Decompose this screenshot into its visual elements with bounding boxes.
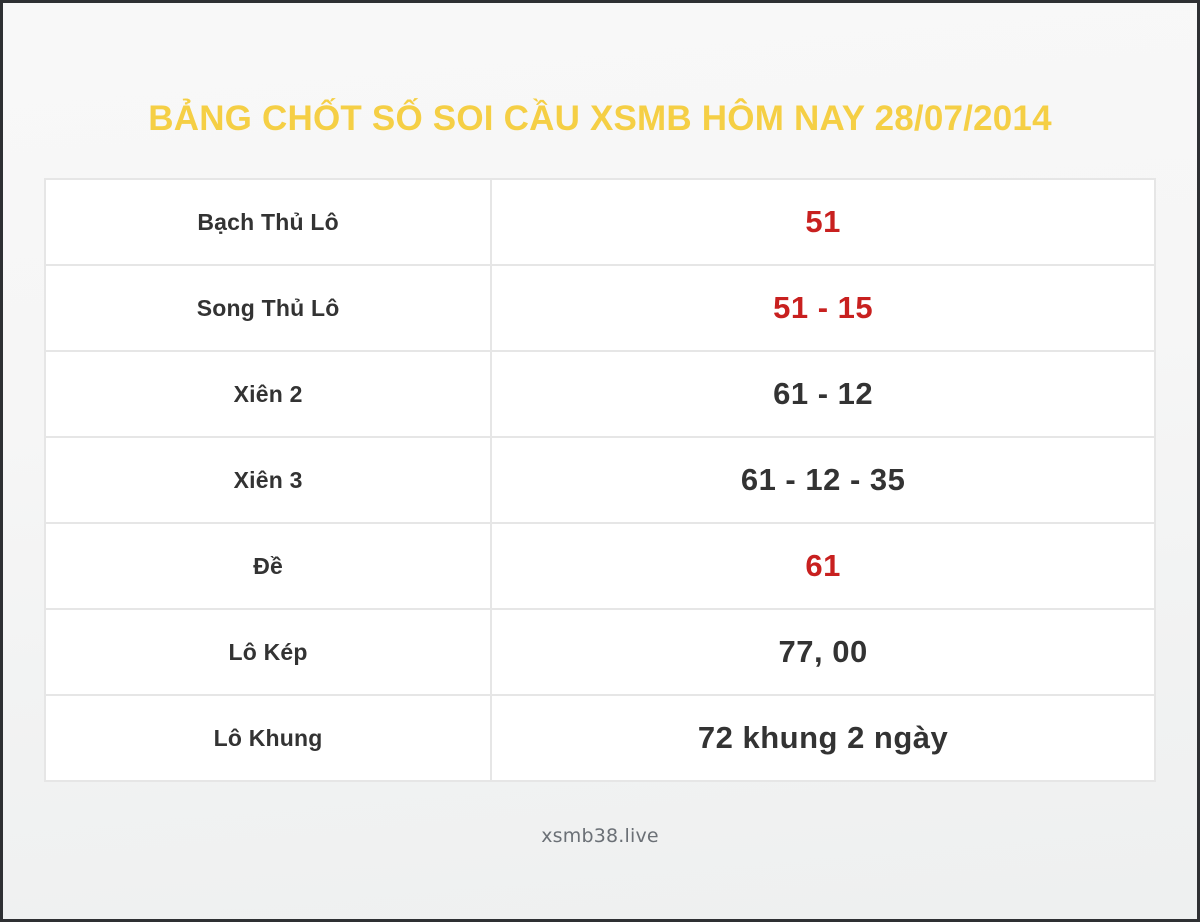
page-title: BẢNG CHỐT SỐ SOI CẦU XSMB HÔM NAY 28/07/… bbox=[3, 99, 1197, 139]
table-row: Xiên 3 61 - 12 - 35 bbox=[46, 438, 1156, 524]
row-label: Lô Khung bbox=[46, 696, 492, 782]
row-value: 51 - 15 bbox=[492, 266, 1156, 352]
row-label: Song Thủ Lô bbox=[46, 266, 492, 352]
row-value: 61 bbox=[492, 524, 1156, 610]
row-label: Xiên 2 bbox=[46, 352, 492, 438]
table-row: Song Thủ Lô 51 - 15 bbox=[46, 266, 1156, 352]
row-label: Xiên 3 bbox=[46, 438, 492, 524]
row-value: 77, 00 bbox=[492, 610, 1156, 696]
table-row: Lô Kép 77, 00 bbox=[46, 610, 1156, 696]
row-label: Lô Kép bbox=[46, 610, 492, 696]
row-label: Đề bbox=[46, 524, 492, 610]
table-row: Xiên 2 61 - 12 bbox=[46, 352, 1156, 438]
row-value: 61 - 12 - 35 bbox=[492, 438, 1156, 524]
table-row: Lô Khung 72 khung 2 ngày bbox=[46, 696, 1156, 782]
table-row: Bạch Thủ Lô 51 bbox=[46, 180, 1156, 266]
prediction-table: Bạch Thủ Lô 51 Song Thủ Lô 51 - 15 Xiên … bbox=[44, 178, 1156, 782]
row-value: 72 khung 2 ngày bbox=[492, 696, 1156, 782]
table-row: Đề 61 bbox=[46, 524, 1156, 610]
row-label: Bạch Thủ Lô bbox=[46, 180, 492, 266]
row-value: 51 bbox=[492, 180, 1156, 266]
result-card: BẢNG CHỐT SỐ SOI CẦU XSMB HÔM NAY 28/07/… bbox=[3, 3, 1197, 919]
row-value: 61 - 12 bbox=[492, 352, 1156, 438]
site-watermark: xsmb38.live bbox=[3, 825, 1197, 847]
